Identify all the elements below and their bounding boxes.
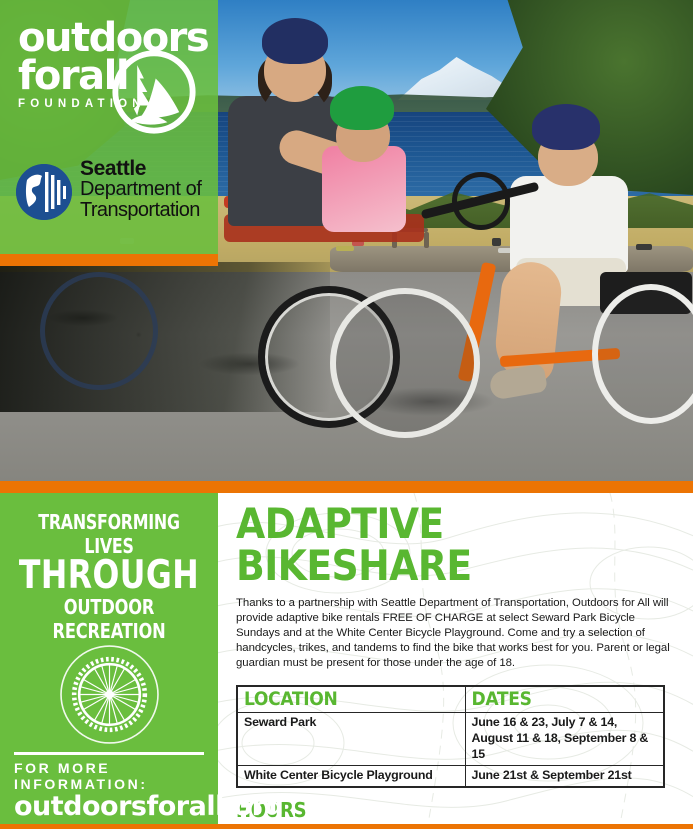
orange-divider-bottom <box>0 824 693 829</box>
tagline-line-2: THROUGH <box>11 557 207 594</box>
sdot-line-2: Department of <box>80 179 202 199</box>
poster-root: outdoors forall FOUNDATION <box>0 0 693 829</box>
bike-wheel-rear-left <box>40 272 158 390</box>
tagline-line-1: TRANSFORMING LIVES <box>15 510 202 558</box>
table-row: White Center Bicycle Playground June 21s… <box>237 765 664 786</box>
table-row: Seward Park June 16 & 23, July 7 & 14, A… <box>237 713 664 766</box>
bike-wheel-front <box>330 288 480 438</box>
cell-dates-white-center: June 21st & September 21st <box>465 765 664 786</box>
footer-label: FOR MORE INFORMATION: <box>14 760 214 792</box>
description-paragraph: Thanks to a partnership with Seattle Dep… <box>236 596 679 671</box>
tagline: TRANSFORMING LIVES THROUGH OUTDOOR RECRE… <box>0 510 218 643</box>
content-panel: ADAPTIVE BIKESHARE Thanks to a partnersh… <box>218 493 693 824</box>
table-header-row: LOCATION DATES <box>237 686 664 712</box>
orange-divider-top <box>0 254 218 266</box>
sdot-logo: Seattle Department of Transportation <box>16 158 212 232</box>
sdot-wordmark: Seattle Department of Transportation <box>80 158 202 220</box>
hours-heading: HOURS <box>236 800 681 820</box>
tagline-line-3: OUTDOOR RECREATION <box>13 595 205 643</box>
cell-location-white-center: White Center Bicycle Playground <box>237 765 465 786</box>
footer-website-url[interactable]: outdoorsforall.org <box>14 793 214 821</box>
helmet-blue-right <box>532 104 600 150</box>
column-header-dates: DATES <box>465 686 664 712</box>
column-header-location: LOCATION <box>237 686 465 712</box>
schedule-table: LOCATION DATES Seward Park June 16 & 23,… <box>236 685 665 787</box>
bicycle-wheel-icon <box>59 644 160 745</box>
seattle-city-seal-icon <box>16 164 72 220</box>
logo-header-panel: outdoors forall FOUNDATION <box>0 0 218 254</box>
orange-divider-middle <box>0 481 693 493</box>
cell-location-seward-park: Seward Park <box>237 713 465 766</box>
footer-contact: FOR MORE INFORMATION: outdoorsforall.org <box>14 760 214 821</box>
helmet-blue-left <box>262 18 328 64</box>
tree-mountain-circle-icon <box>112 50 196 134</box>
footer-divider-rule <box>14 752 204 755</box>
page-title: ADAPTIVE BIKESHARE <box>236 503 681 587</box>
cell-dates-seward-park: June 16 & 23, July 7 & 14, August 11 & 1… <box>465 713 664 766</box>
helmet-green-child <box>330 86 394 130</box>
sdot-line-3: Transportation <box>80 200 202 220</box>
sdot-line-1: Seattle <box>80 158 202 179</box>
